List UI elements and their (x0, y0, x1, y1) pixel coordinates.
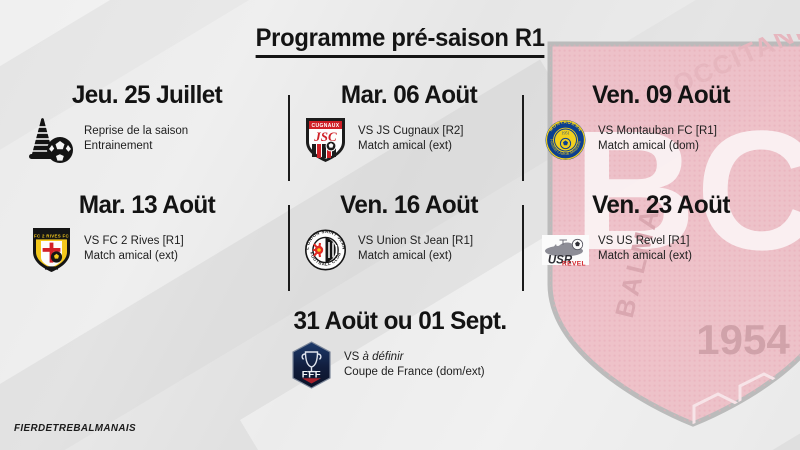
fixture-type: Match amical (ext) (358, 139, 463, 155)
fixture-date: Ven. 16 Aoüt (299, 192, 518, 218)
fixture-opponent: VS Montauban FC [R1] (598, 124, 717, 140)
fixture-row: Jeu. 25 Juillet (0, 82, 800, 192)
fixture-card[interactable]: Mar. 06 Aoüt CUGNAUX JSC (296, 82, 522, 192)
montauban-fc-crest-icon: MONTAUBAN Football Club de Montauban 195… (542, 114, 589, 164)
footer-handle: FIERDETREBALMANAIS (14, 422, 136, 434)
fixture-card[interactable]: Mar. 13 Aoüt FC 2 RIVES FC VS FC 2 Rives… (22, 192, 272, 302)
fixture-body: FFF VS à définir Coupe de France (dom/ex… (248, 340, 552, 390)
svg-text:1951: 1951 (562, 130, 570, 135)
fixture-card[interactable]: Ven. 09 Aoüt MONTAUBAN Football Club de … (536, 82, 786, 192)
fixture-detail: VS US Revel [R1] Match amical (ext) (598, 234, 692, 265)
svg-text:REVEL: REVEL (562, 260, 586, 267)
fixture-opponent-prefix: VS (344, 351, 363, 363)
fixture-detail: Reprise de la saison Entrainement (84, 124, 188, 155)
fixture-row: 31 Aoüt ou 01 Sept. (0, 308, 800, 418)
svg-text:FC 2 RIVES FC: FC 2 RIVES FC (34, 233, 69, 238)
fixture-date: Jeu. 25 Juillet (26, 82, 269, 108)
fixture-opponent: VS à définir (344, 350, 485, 366)
fixture-opponent: VS US Revel [R1] (598, 234, 692, 250)
us-revel-crest-icon: USR REVEL (542, 224, 589, 274)
fixture-body: CUGNAUX JSC VS JS Cugnaux [R2] Match ami… (296, 114, 522, 164)
fixture-detail: VS FC 2 Rives [R1] Match amical (ext) (84, 234, 184, 265)
training-cone-ball-icon (28, 114, 75, 164)
fixture-type: Match amical (ext) (358, 249, 473, 265)
fixture-opponent: Reprise de la saison (84, 124, 188, 140)
fixture-opponent: VS JS Cugnaux [R2] (358, 124, 463, 140)
fixture-body: MONTAUBAN Football Club de Montauban 195… (536, 114, 786, 164)
fixture-date: Ven. 23 Aoüt (540, 192, 783, 218)
fixture-opponent: VS FC 2 Rives [R1] (84, 234, 184, 250)
fixture-type: Match amical (ext) (598, 249, 692, 265)
fixture-type: Coupe de France (dom/ext) (344, 365, 485, 381)
fixture-type: Match amical (dom) (598, 139, 717, 155)
fixture-date: Ven. 09 Aoüt (540, 82, 783, 108)
fixture-detail: VS Montauban FC [R1] Match amical (dom) (598, 124, 717, 155)
fixture-card[interactable]: Ven. 23 Aoüt USR REVEL VS US Revel [R1] (536, 192, 786, 302)
fixture-card[interactable]: Ven. 16 Aoüt L'UNION SAINT JEAN FOOTBALL… (296, 192, 522, 302)
fixture-detail: VS JS Cugnaux [R2] Match amical (ext) (358, 124, 463, 155)
page-title: Programme pré-saison R1 (255, 24, 544, 58)
fixture-type: Match amical (ext) (84, 249, 184, 265)
fixture-body: Reprise de la saison Entrainement (22, 114, 272, 164)
fixture-type: Entrainement (84, 139, 188, 155)
fixture-detail: VS à définir Coupe de France (dom/ext) (344, 350, 485, 381)
fixture-body: L'UNION SAINT JEAN FOOTBALL CLUB VS Unio… (296, 224, 522, 274)
fixture-opponent: VS Union St Jean [R1] (358, 234, 473, 250)
svg-text:FFF: FFF (302, 370, 321, 381)
fixture-body: FC 2 RIVES FC VS FC 2 Rives [R1] Match a… (22, 224, 272, 274)
coupe-de-france-fff-crest-icon: FFF (288, 340, 335, 390)
js-cugnaux-crest-icon: CUGNAUX JSC (302, 114, 349, 164)
fixture-opponent-emphasis: à définir (363, 351, 404, 363)
fixture-date: 31 Aoüt ou 01 Sept. (253, 308, 548, 334)
fixture-date: Mar. 13 Aoüt (26, 192, 269, 218)
fixture-card[interactable]: Jeu. 25 Juillet (22, 82, 272, 192)
fixture-row: Mar. 13 Aoüt FC 2 RIVES FC VS FC 2 Rives… (0, 192, 800, 302)
fc-2-rives-crest-icon: FC 2 RIVES FC (28, 224, 75, 274)
fixture-card[interactable]: 31 Aoüt ou 01 Sept. (248, 308, 552, 418)
union-saint-jean-crest-icon: L'UNION SAINT JEAN FOOTBALL CLUB (302, 224, 349, 274)
fixture-detail: VS Union St Jean [R1] Match amical (ext) (358, 234, 473, 265)
fixture-date: Mar. 06 Aoüt (299, 82, 518, 108)
fixture-body: USR REVEL VS US Revel [R1] Match amical … (536, 224, 786, 274)
title-container: Programme pré-saison R1 (0, 24, 800, 58)
